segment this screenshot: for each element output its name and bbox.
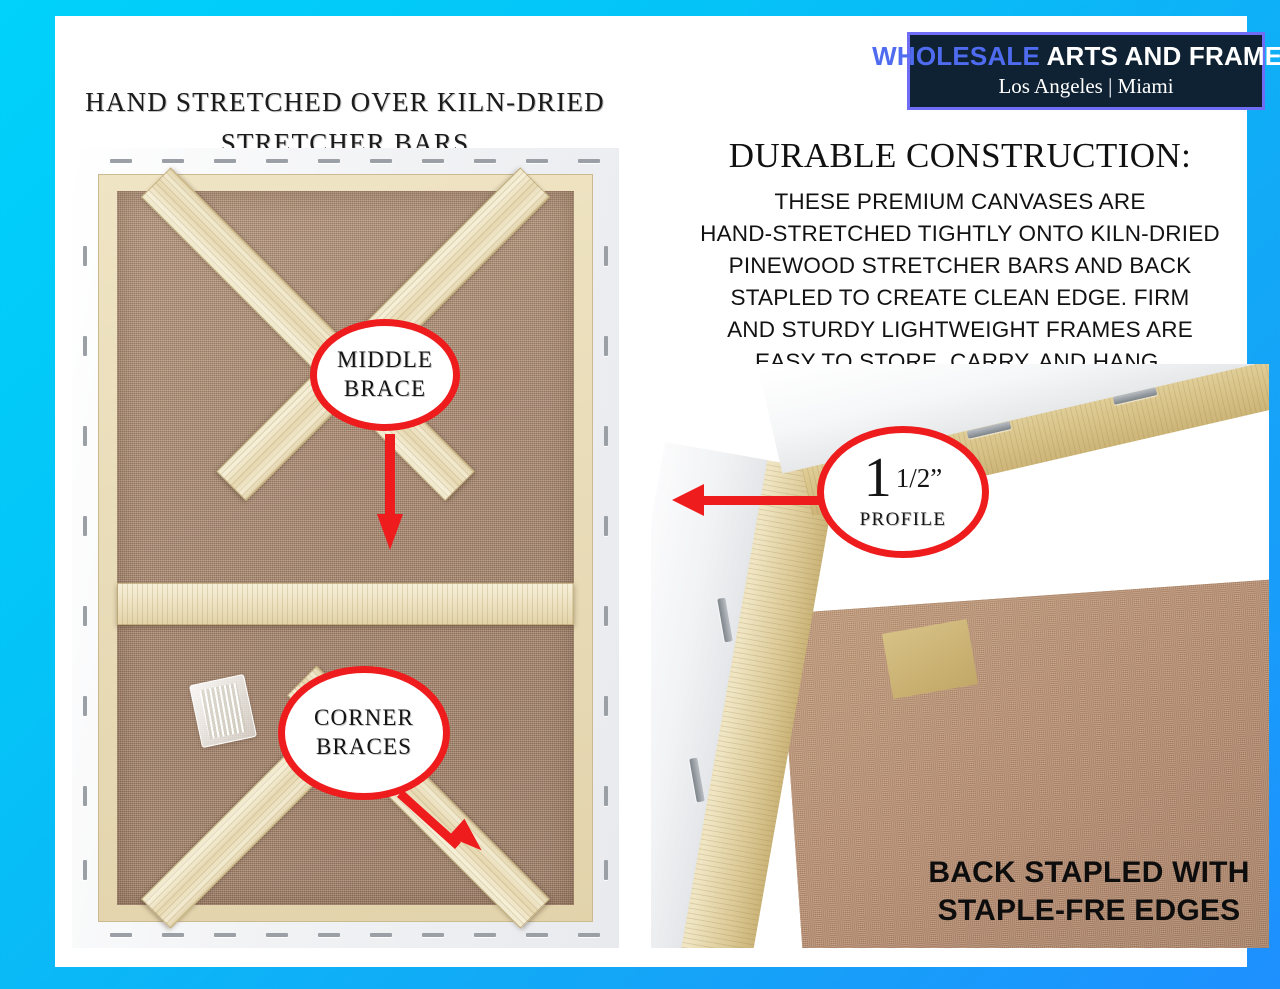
body-line: and sturdy lightweight frames are [651, 314, 1269, 346]
arrow-to-corner-brace [400, 781, 490, 861]
brand-name: WHOLESALE ARTS AND FRAMES [872, 43, 1280, 70]
callout-line: Middle [337, 346, 433, 375]
stretcher-bar-frame [98, 174, 593, 922]
staple [83, 336, 87, 356]
durable-construction-block: Durable Construction: These premium canv… [651, 136, 1269, 378]
staple [422, 933, 444, 937]
staple [110, 159, 132, 163]
body-line: These premium canvases are [651, 186, 1269, 218]
profile-whole-number: 1 [864, 453, 892, 505]
callout-middle-brace: Middle Brace [310, 319, 460, 431]
staple [526, 933, 548, 937]
staple [604, 696, 608, 716]
callout-line: Corner [314, 704, 414, 733]
brand-logo: WHOLESALE ARTS AND FRAMES Los Angeles | … [907, 32, 1265, 110]
staple [83, 696, 87, 716]
staple [83, 246, 87, 266]
profile-fraction: 1/2” [896, 453, 943, 492]
staple [474, 159, 496, 163]
arrow-to-canvas-profile [672, 484, 824, 518]
staple [83, 786, 87, 806]
staple [318, 933, 340, 937]
profile-label: Profile [860, 509, 947, 531]
staple [83, 426, 87, 446]
staple [604, 786, 608, 806]
staple [318, 159, 340, 163]
staple [604, 860, 608, 880]
staple [214, 933, 236, 937]
staple [474, 933, 496, 937]
arrow-to-middle-brace [377, 434, 403, 552]
staple [370, 933, 392, 937]
callout-line: Brace [344, 375, 426, 404]
middle-brace-bar [117, 583, 574, 625]
staple [266, 159, 288, 163]
staple [83, 606, 87, 626]
staple [162, 933, 184, 937]
staple [604, 336, 608, 356]
staple [370, 159, 392, 163]
staple [83, 516, 87, 536]
staple [578, 159, 600, 163]
staple [526, 159, 548, 163]
durable-construction-heading: Durable Construction: [651, 136, 1269, 176]
body-line: pinewood stretcher bars and back [651, 250, 1269, 282]
callout-profile-size: 1 1/2” Profile [817, 426, 989, 558]
brand-name-rest: ARTS AND FRAMES [1040, 41, 1280, 71]
staple [266, 933, 288, 937]
staple [604, 516, 608, 536]
callout-line: Braces [316, 733, 412, 762]
brand-name-highlight: WHOLESALE [872, 41, 1040, 71]
staple [422, 159, 444, 163]
canvas-back-photo [72, 148, 619, 948]
staple [604, 246, 608, 266]
hanging-kit-bag [189, 674, 257, 748]
callout-corner-braces: Corner Braces [278, 666, 450, 800]
caption-line: STAPLE-FRE EDGES [909, 892, 1269, 930]
outer-border: WHOLESALE ARTS AND FRAMES Los Angeles | … [0, 0, 1280, 989]
body-line: hand-stretched tightly onto kiln-dried [651, 218, 1269, 250]
infographic-page: WHOLESALE ARTS AND FRAMES Los Angeles | … [55, 16, 1247, 967]
body-line: stapled to create clean edge. firm [651, 282, 1269, 314]
staple [214, 159, 236, 163]
caption-line: BACK STAPLED WITH [909, 854, 1269, 892]
staple [604, 426, 608, 446]
staple [110, 933, 132, 937]
staple [83, 860, 87, 880]
staple [162, 159, 184, 163]
staple [578, 933, 600, 937]
brand-locations: Los Angeles | Miami [998, 74, 1173, 99]
back-stapled-caption: BACK STAPLED WITH STAPLE-FRE EDGES [909, 854, 1269, 931]
staple [604, 606, 608, 626]
profile-measurement: 1 1/2” [864, 453, 943, 505]
durable-construction-body: These premium canvases are hand-stretche… [651, 186, 1269, 378]
